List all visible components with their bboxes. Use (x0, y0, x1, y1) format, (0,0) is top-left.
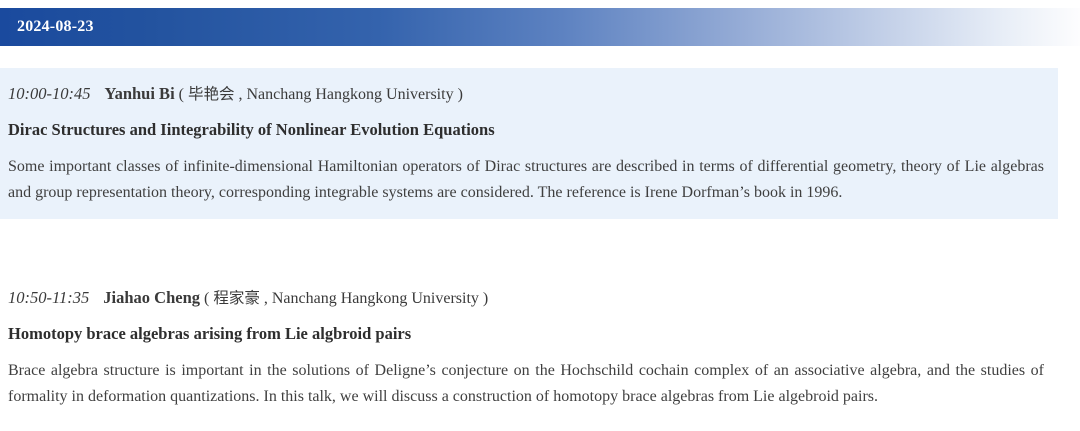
talk-comma: , (239, 86, 243, 103)
talk-title: Homotopy brace algebras arising from Lie… (8, 323, 1044, 345)
talk-meta-line: 10:50-11:35Jiahao Cheng ( 程家豪 , Nanchang… (8, 286, 1044, 310)
talk-entry: 10:00-10:45Yanhui Bi ( 毕艳会 , Nanchang Ha… (0, 68, 1058, 219)
talk-entry: 10:50-11:35Jiahao Cheng ( 程家豪 , Nanchang… (0, 272, 1058, 423)
talk-speaker-name: Yanhui Bi (104, 84, 174, 103)
talk-meta-line: 10:00-10:45Yanhui Bi ( 毕艳会 , Nanchang Ha… (8, 82, 1044, 106)
talk-time: 10:50-11:35 (8, 288, 89, 307)
talk-abstract: Brace algebra structure is important in … (8, 358, 1044, 410)
talk-affiliation: Nanchang Hangkong University (247, 86, 454, 103)
talk-speaker-name-cn: 毕艳会 (188, 85, 235, 103)
schedule-page: 2024-08-23 10:00-10:45Yanhui Bi ( 毕艳会 , … (0, 0, 1080, 431)
talk-close-paren: ) (483, 290, 488, 307)
talk-speaker-name: Jiahao Cheng (103, 288, 200, 307)
talk-close-paren: ) (458, 86, 463, 103)
talk-affiliation: Nanchang Hangkong University (272, 290, 479, 307)
talk-abstract: Some important classes of infinite-dimen… (8, 154, 1044, 206)
talk-time: 10:00-10:45 (8, 84, 90, 103)
date-header-bar: 2024-08-23 (0, 8, 1080, 46)
talk-speaker-name-cn: 程家豪 (213, 289, 260, 307)
date-header-label: 2024-08-23 (17, 18, 94, 36)
talk-title: Dirac Structures and Iintegrability of N… (8, 119, 1044, 141)
